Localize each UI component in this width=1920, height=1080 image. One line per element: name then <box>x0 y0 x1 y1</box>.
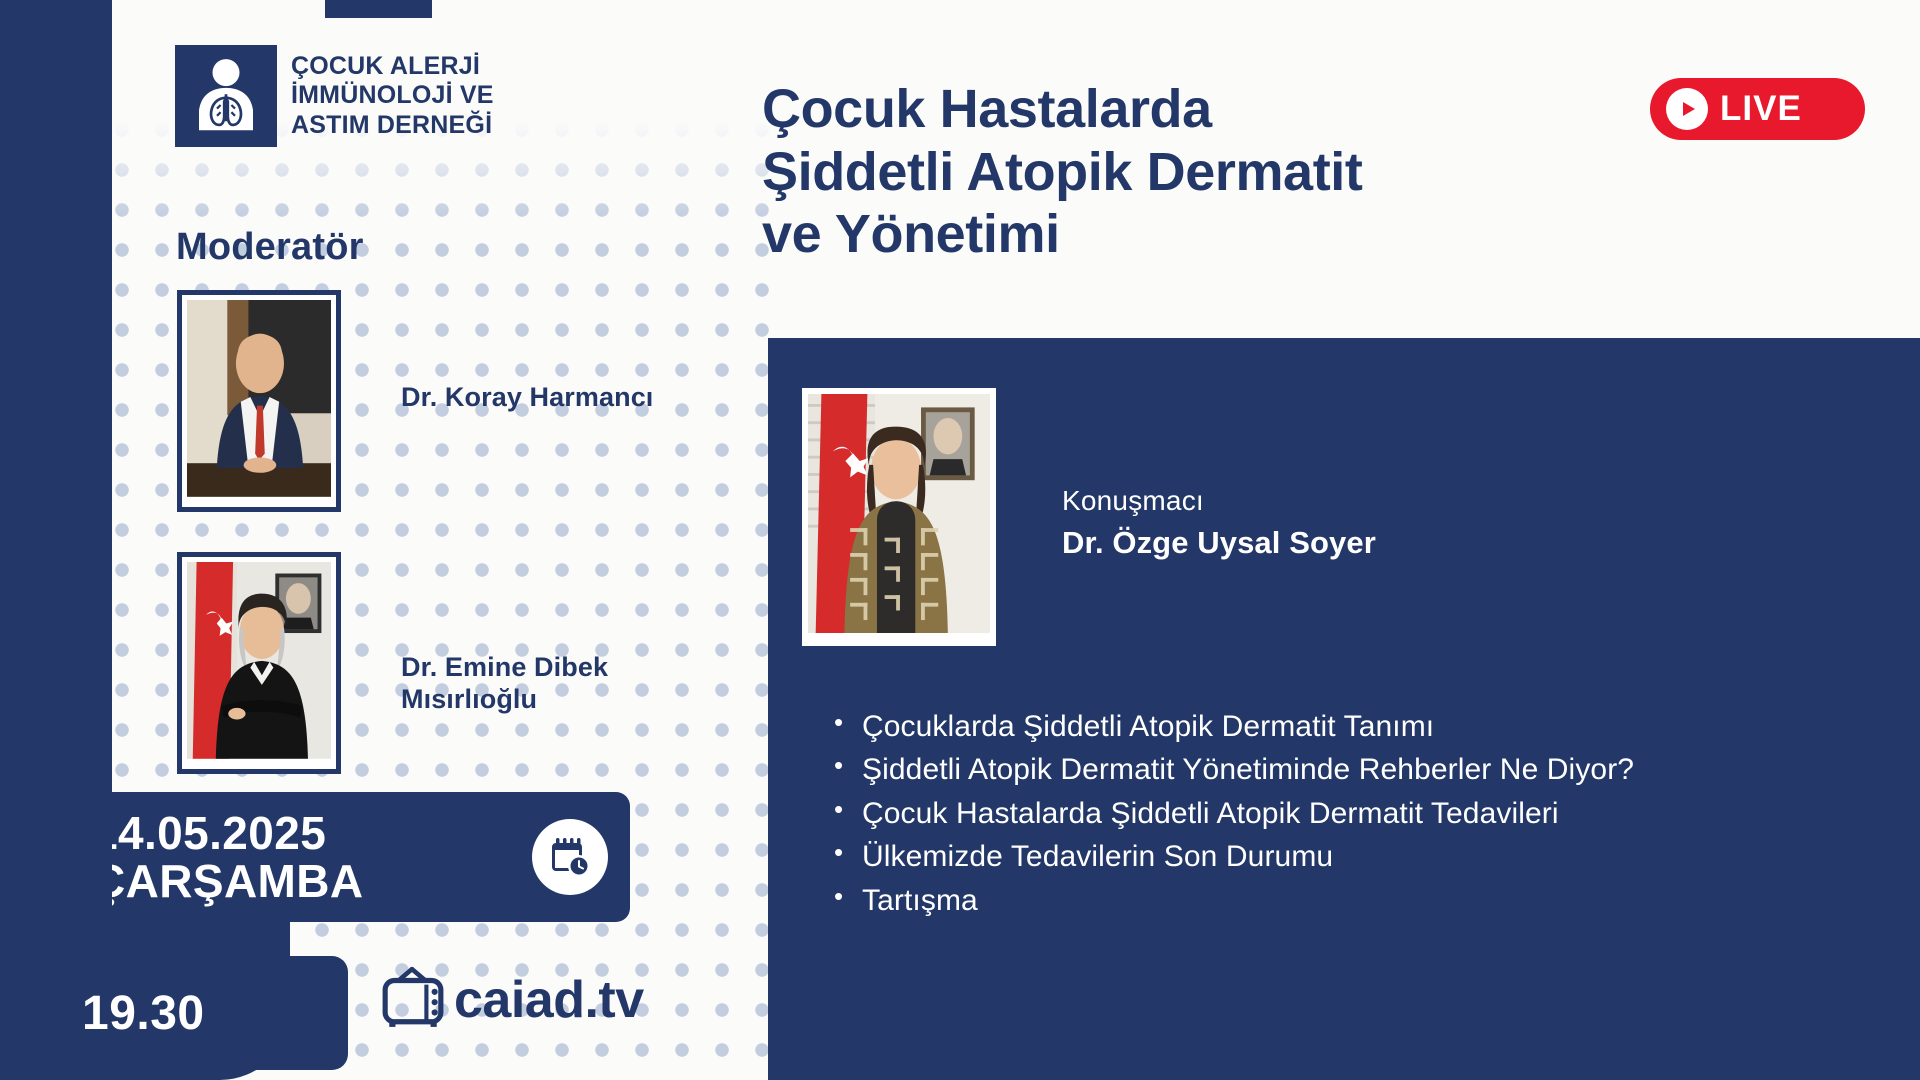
live-badge-label: LIVE <box>1720 89 1802 129</box>
speaker-role-label: Konuşmacı <box>1062 485 1204 517</box>
moderator-name-2: Dr. Emine Dibek Mısırlıoğlu <box>401 652 701 716</box>
list-item: Tartışma <box>826 880 1866 921</box>
speaker-name: Dr. Özge Uysal Soyer <box>1062 525 1376 561</box>
event-date: 14.05.2025 ÇARŞAMBA <box>92 809 364 906</box>
tv-icon <box>380 966 446 1033</box>
play-icon <box>1666 88 1708 130</box>
topic-list: Çocuklarda Şiddetli Atopik Dermatit Tanı… <box>826 706 1866 923</box>
channel-site-label: caiad.tv <box>454 970 644 1030</box>
top-navy-tab <box>325 0 432 18</box>
moderator-heading: Moderatör <box>176 226 364 269</box>
speaker-photo <box>796 382 1002 652</box>
time-banner: 19.30 <box>0 956 348 1070</box>
list-item: Ülkemizde Tedavilerin Son Durumu <box>826 836 1866 877</box>
list-item: Çocuk Hastalarda Şiddetli Atopik Dermati… <box>826 793 1866 834</box>
page-title: Çocuk Hastalarda Şiddetli Atopik Dermati… <box>762 78 1642 266</box>
association-name: ÇOCUK ALERJİ İMMÜNOLOJİ VE ASTIM DERNEĞİ <box>291 52 494 140</box>
association-logo: ÇOCUK ALERJİ İMMÜNOLOJİ VE ASTIM DERNEĞİ <box>175 45 494 147</box>
calendar-clock-icon <box>532 819 608 895</box>
list-item: Şiddetli Atopik Dermatit Yönetiminde Reh… <box>826 749 1866 790</box>
left-top-navy-block <box>0 0 112 182</box>
child-lungs-icon <box>175 45 277 147</box>
date-banner: 14.05.2025 ÇARŞAMBA <box>78 792 630 922</box>
event-time: 19.30 <box>82 986 205 1041</box>
live-badge[interactable]: LIVE <box>1650 78 1865 140</box>
moderator-photo-2 <box>177 552 341 774</box>
channel-row[interactable]: caiad.tv <box>380 966 644 1033</box>
moderator-photo-1 <box>177 290 341 512</box>
moderator-name-1: Dr. Koray Harmancı <box>401 382 661 414</box>
list-item: Çocuklarda Şiddetli Atopik Dermatit Tanı… <box>826 706 1866 747</box>
webinar-poster: ÇOCUK ALERJİ İMMÜNOLOJİ VE ASTIM DERNEĞİ… <box>0 0 1920 1080</box>
